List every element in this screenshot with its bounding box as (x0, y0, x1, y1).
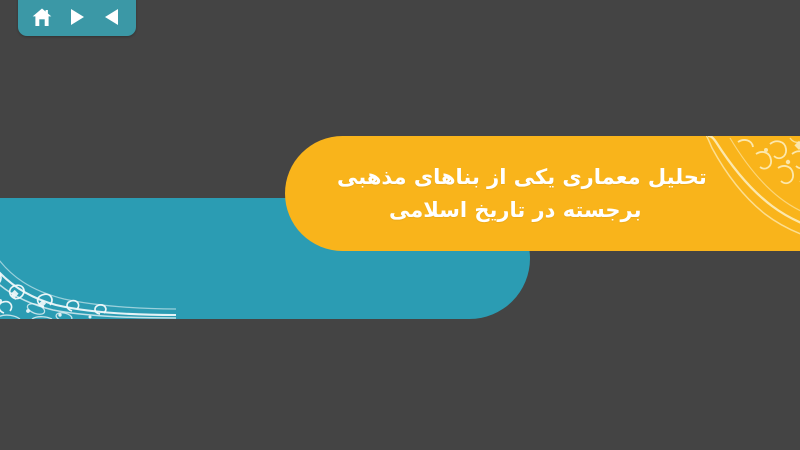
home-button[interactable] (30, 5, 54, 29)
title-panel: تحلیل معماری یکی از بناهای مذهبی برجسته … (285, 136, 800, 251)
title-line-1: تحلیل معماری یکی از بناهای مذهبی (337, 161, 707, 194)
next-slide-button[interactable] (65, 5, 89, 29)
triangle-right-icon (69, 8, 85, 26)
title-line-2: برجسته در تاریخ اسلامی (337, 194, 641, 227)
home-icon (32, 8, 52, 27)
presentation-navigation-bar[interactable] (18, 0, 136, 36)
previous-slide-button[interactable] (100, 5, 124, 29)
presentation-slide: تحلیل معماری یکی از بناهای مذهبی برجسته … (0, 0, 800, 450)
triangle-left-icon (104, 8, 120, 26)
slide-title: تحلیل معماری یکی از بناهای مذهبی برجسته … (337, 136, 800, 251)
islamic-arabesque-corner-ornament (0, 201, 176, 319)
